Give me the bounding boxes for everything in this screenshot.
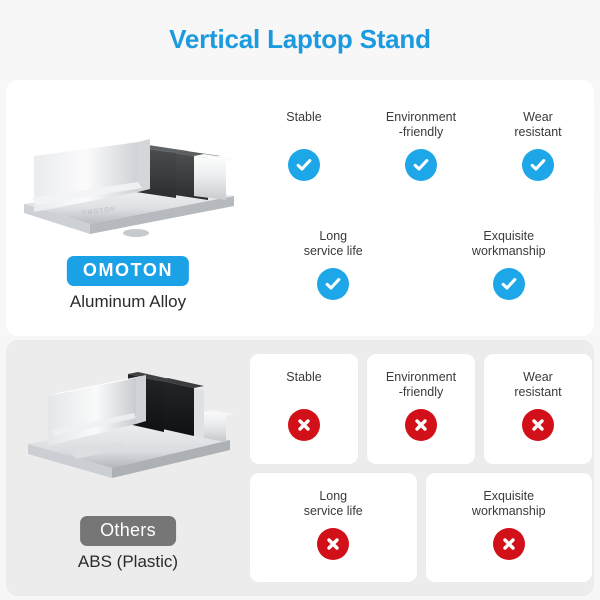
comparison-panel-omoton: OMOTON OMOTON Aluminum Alloy Stable Envi… bbox=[6, 80, 594, 336]
feature-label: Exquisite workmanship bbox=[472, 489, 546, 519]
feature-label: Stable bbox=[286, 370, 321, 400]
feature-label: Wear resistant bbox=[514, 370, 561, 400]
feature-card-exquisite-workmanship[interactable]: Exquisite workmanship bbox=[426, 213, 593, 322]
feature-row-1: Stable Environment -friendly Wear resist… bbox=[250, 354, 592, 464]
feature-grid-omoton: Stable Environment -friendly Wear resist… bbox=[250, 94, 592, 322]
brand-badge-others: Others bbox=[80, 516, 176, 546]
feature-label: Stable bbox=[286, 110, 321, 140]
comparison-panel-others: Others ABS (Plastic) Stable Environment … bbox=[6, 340, 594, 596]
check-icon bbox=[493, 268, 525, 300]
feature-card-stable[interactable]: Stable bbox=[250, 94, 358, 204]
feature-card-wear-resistant[interactable]: Wear resistant bbox=[484, 94, 592, 204]
check-icon bbox=[288, 149, 320, 181]
feature-row-2: Long service life Exquisite workmanship bbox=[250, 213, 592, 322]
feature-grid-others: Stable Environment -friendly Wear resist… bbox=[250, 354, 592, 582]
feature-card-environment-friendly[interactable]: Environment -friendly bbox=[367, 94, 475, 204]
feature-label: Long service life bbox=[304, 489, 363, 519]
brand-badge-omoton: OMOTON bbox=[67, 256, 189, 286]
cross-icon bbox=[288, 409, 320, 441]
feature-row-1: Stable Environment -friendly Wear resist… bbox=[250, 94, 592, 204]
feature-label: Environment -friendly bbox=[386, 110, 456, 140]
feature-card-wear-resistant[interactable]: Wear resistant bbox=[484, 354, 592, 464]
check-icon bbox=[405, 149, 437, 181]
material-label-others: ABS (Plastic) bbox=[10, 552, 246, 572]
cross-icon bbox=[405, 409, 437, 441]
check-icon bbox=[522, 149, 554, 181]
feature-card-environment-friendly[interactable]: Environment -friendly bbox=[367, 354, 475, 464]
cross-icon bbox=[522, 409, 554, 441]
cross-icon bbox=[317, 528, 349, 560]
plastic-vertical-laptop-stand-image bbox=[18, 366, 240, 490]
cross-icon bbox=[493, 528, 525, 560]
feature-card-exquisite-workmanship[interactable]: Exquisite workmanship bbox=[426, 473, 593, 582]
product-column-omoton: OMOTON OMOTON Aluminum Alloy bbox=[10, 80, 246, 336]
feature-card-long-service-life[interactable]: Long service life bbox=[250, 213, 417, 322]
feature-label: Exquisite workmanship bbox=[472, 229, 546, 259]
page-title: Vertical Laptop Stand bbox=[0, 24, 600, 55]
feature-label: Environment -friendly bbox=[386, 370, 456, 400]
feature-row-2: Long service life Exquisite workmanship bbox=[250, 473, 592, 582]
feature-label: Wear resistant bbox=[514, 110, 561, 140]
product-column-others: Others ABS (Plastic) bbox=[10, 340, 246, 596]
feature-card-long-service-life[interactable]: Long service life bbox=[250, 473, 417, 582]
feature-label: Long service life bbox=[304, 229, 363, 259]
feature-card-stable[interactable]: Stable bbox=[250, 354, 358, 464]
material-label-omoton: Aluminum Alloy bbox=[10, 292, 246, 312]
aluminum-vertical-laptop-stand-image: OMOTON bbox=[18, 120, 240, 244]
check-icon bbox=[317, 268, 349, 300]
